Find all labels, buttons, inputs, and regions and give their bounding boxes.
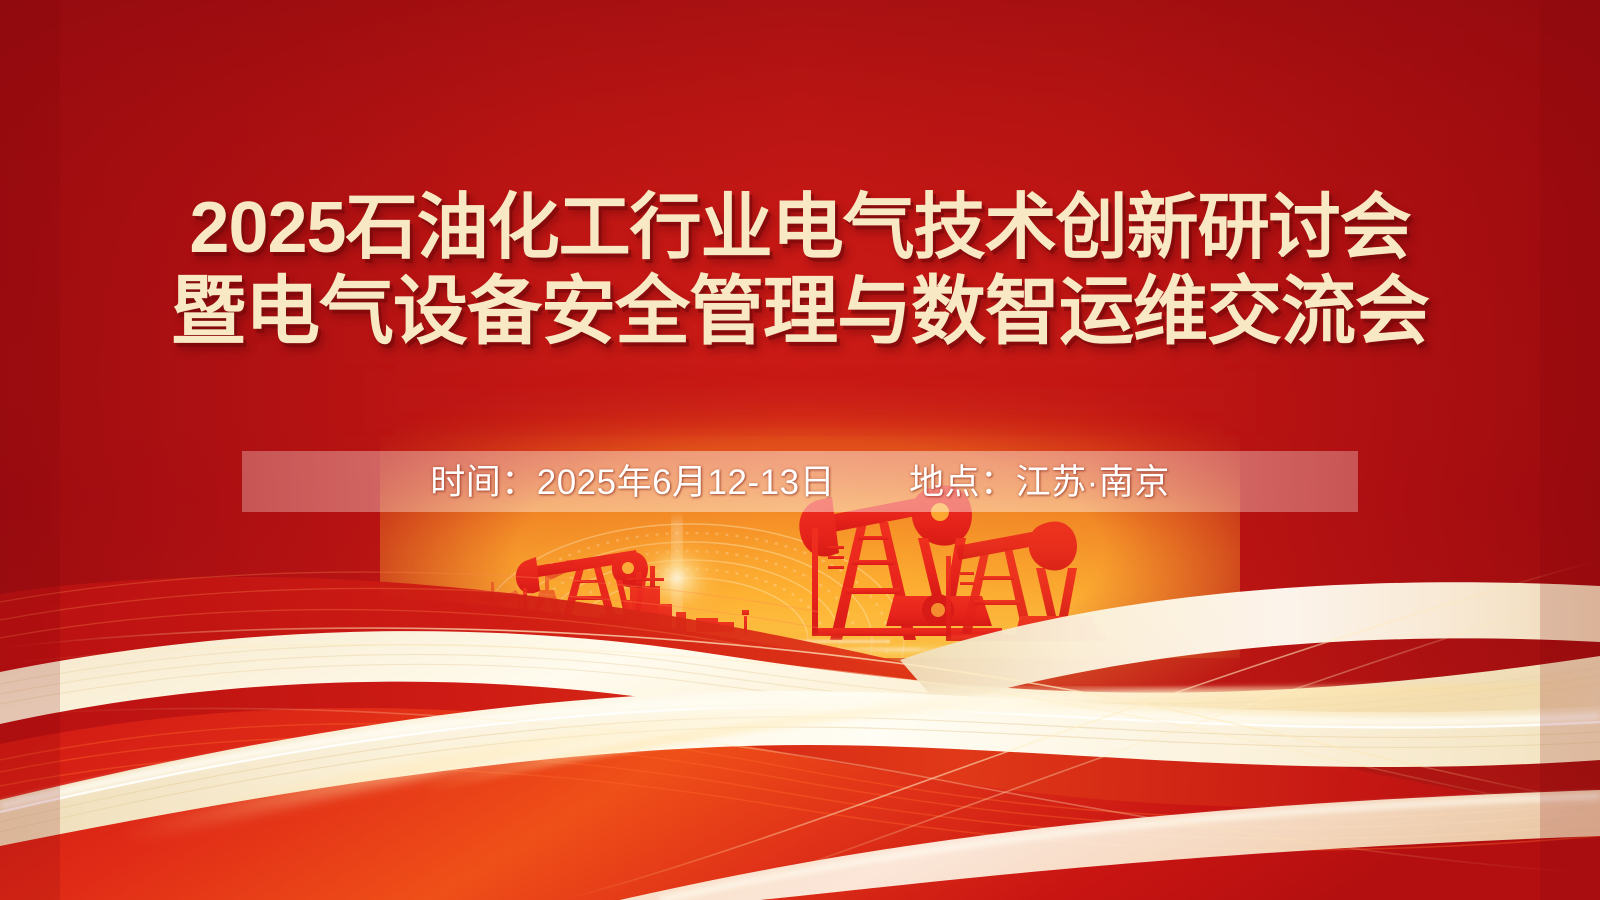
- event-info-band: [242, 451, 1358, 512]
- poster-artwork: [0, 0, 1600, 900]
- conference-banner-poster: 2025石油化工行业电气技术创新研讨会 暨电气设备安全管理与数智运维交流会 时间…: [0, 0, 1600, 900]
